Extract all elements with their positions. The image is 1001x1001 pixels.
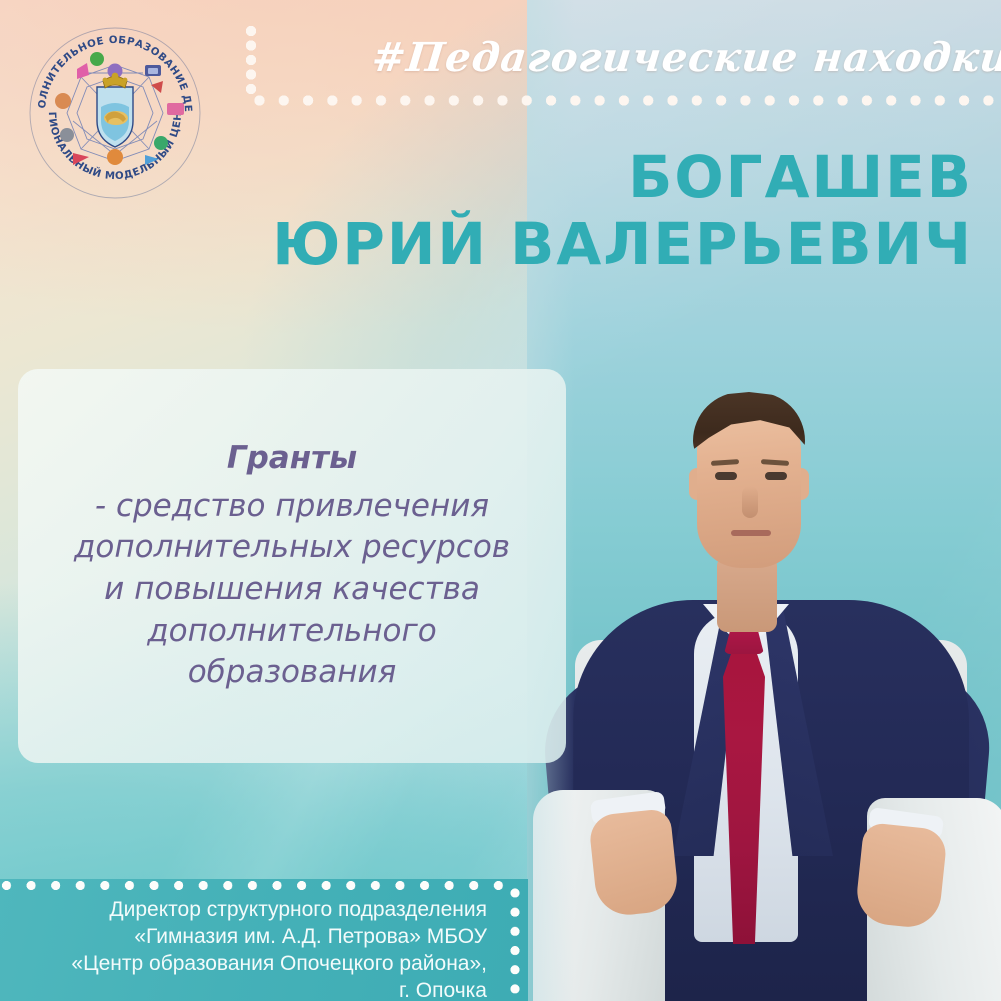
dotted-border-top-horizontal: [252, 93, 1001, 108]
hand-left: [588, 808, 680, 918]
caption-line: «Гимназия им. А.Д. Петрова» МБОУ: [0, 924, 487, 951]
dotted-border-bottom-vertical: [508, 886, 522, 1001]
caption-line: «Центр образования Опочецкого района»,: [0, 951, 487, 978]
eye-left: [715, 472, 737, 480]
hashtag-title: #Педагогические находки: [369, 28, 896, 90]
quote-title: Гранты: [42, 438, 542, 480]
nose: [742, 486, 758, 518]
eye-right: [765, 472, 787, 480]
person-given-patronymic: ЮРИЙ ВАЛЕРЬЕВИЧ: [253, 213, 973, 276]
quote-line: дополнительных ресурсов: [42, 527, 542, 569]
quote-line: образования: [42, 652, 542, 694]
quote-line: - средство привлечения: [42, 486, 542, 528]
quote-line: дополнительного: [42, 611, 542, 653]
dotted-border-bottom-horizontal: [0, 879, 518, 893]
mouth: [731, 530, 771, 536]
quote-body: - средство привлечения дополнительных ре…: [42, 486, 542, 694]
poster-canvas: ДОПОЛНИТЕЛЬНОЕ ОБРАЗОВАНИЕ ДЕТЕЙ РЕГИОНА…: [0, 0, 1001, 1001]
hand-right: [854, 822, 948, 930]
organization-logo: ДОПОЛНИТЕЛЬНОЕ ОБРАЗОВАНИЕ ДЕТЕЙ РЕГИОНА…: [27, 25, 203, 201]
caption-text: Директор структурного подразделения «Гим…: [0, 897, 505, 1001]
quote-card: Гранты - средство привлечения дополнител…: [18, 369, 566, 763]
person-surname: БОГАШЕВ: [253, 146, 973, 209]
quote-text: Гранты - средство привлечения дополнител…: [42, 438, 542, 693]
caption-line: г. Опочка: [0, 978, 487, 1001]
dotted-border-top-vertical: [244, 24, 258, 98]
caption-line: Директор структурного подразделения: [0, 897, 487, 924]
person-name: БОГАШЕВ ЮРИЙ ВАЛЕРЬЕВИЧ: [253, 146, 973, 275]
quote-line: и повышения качества: [42, 569, 542, 611]
